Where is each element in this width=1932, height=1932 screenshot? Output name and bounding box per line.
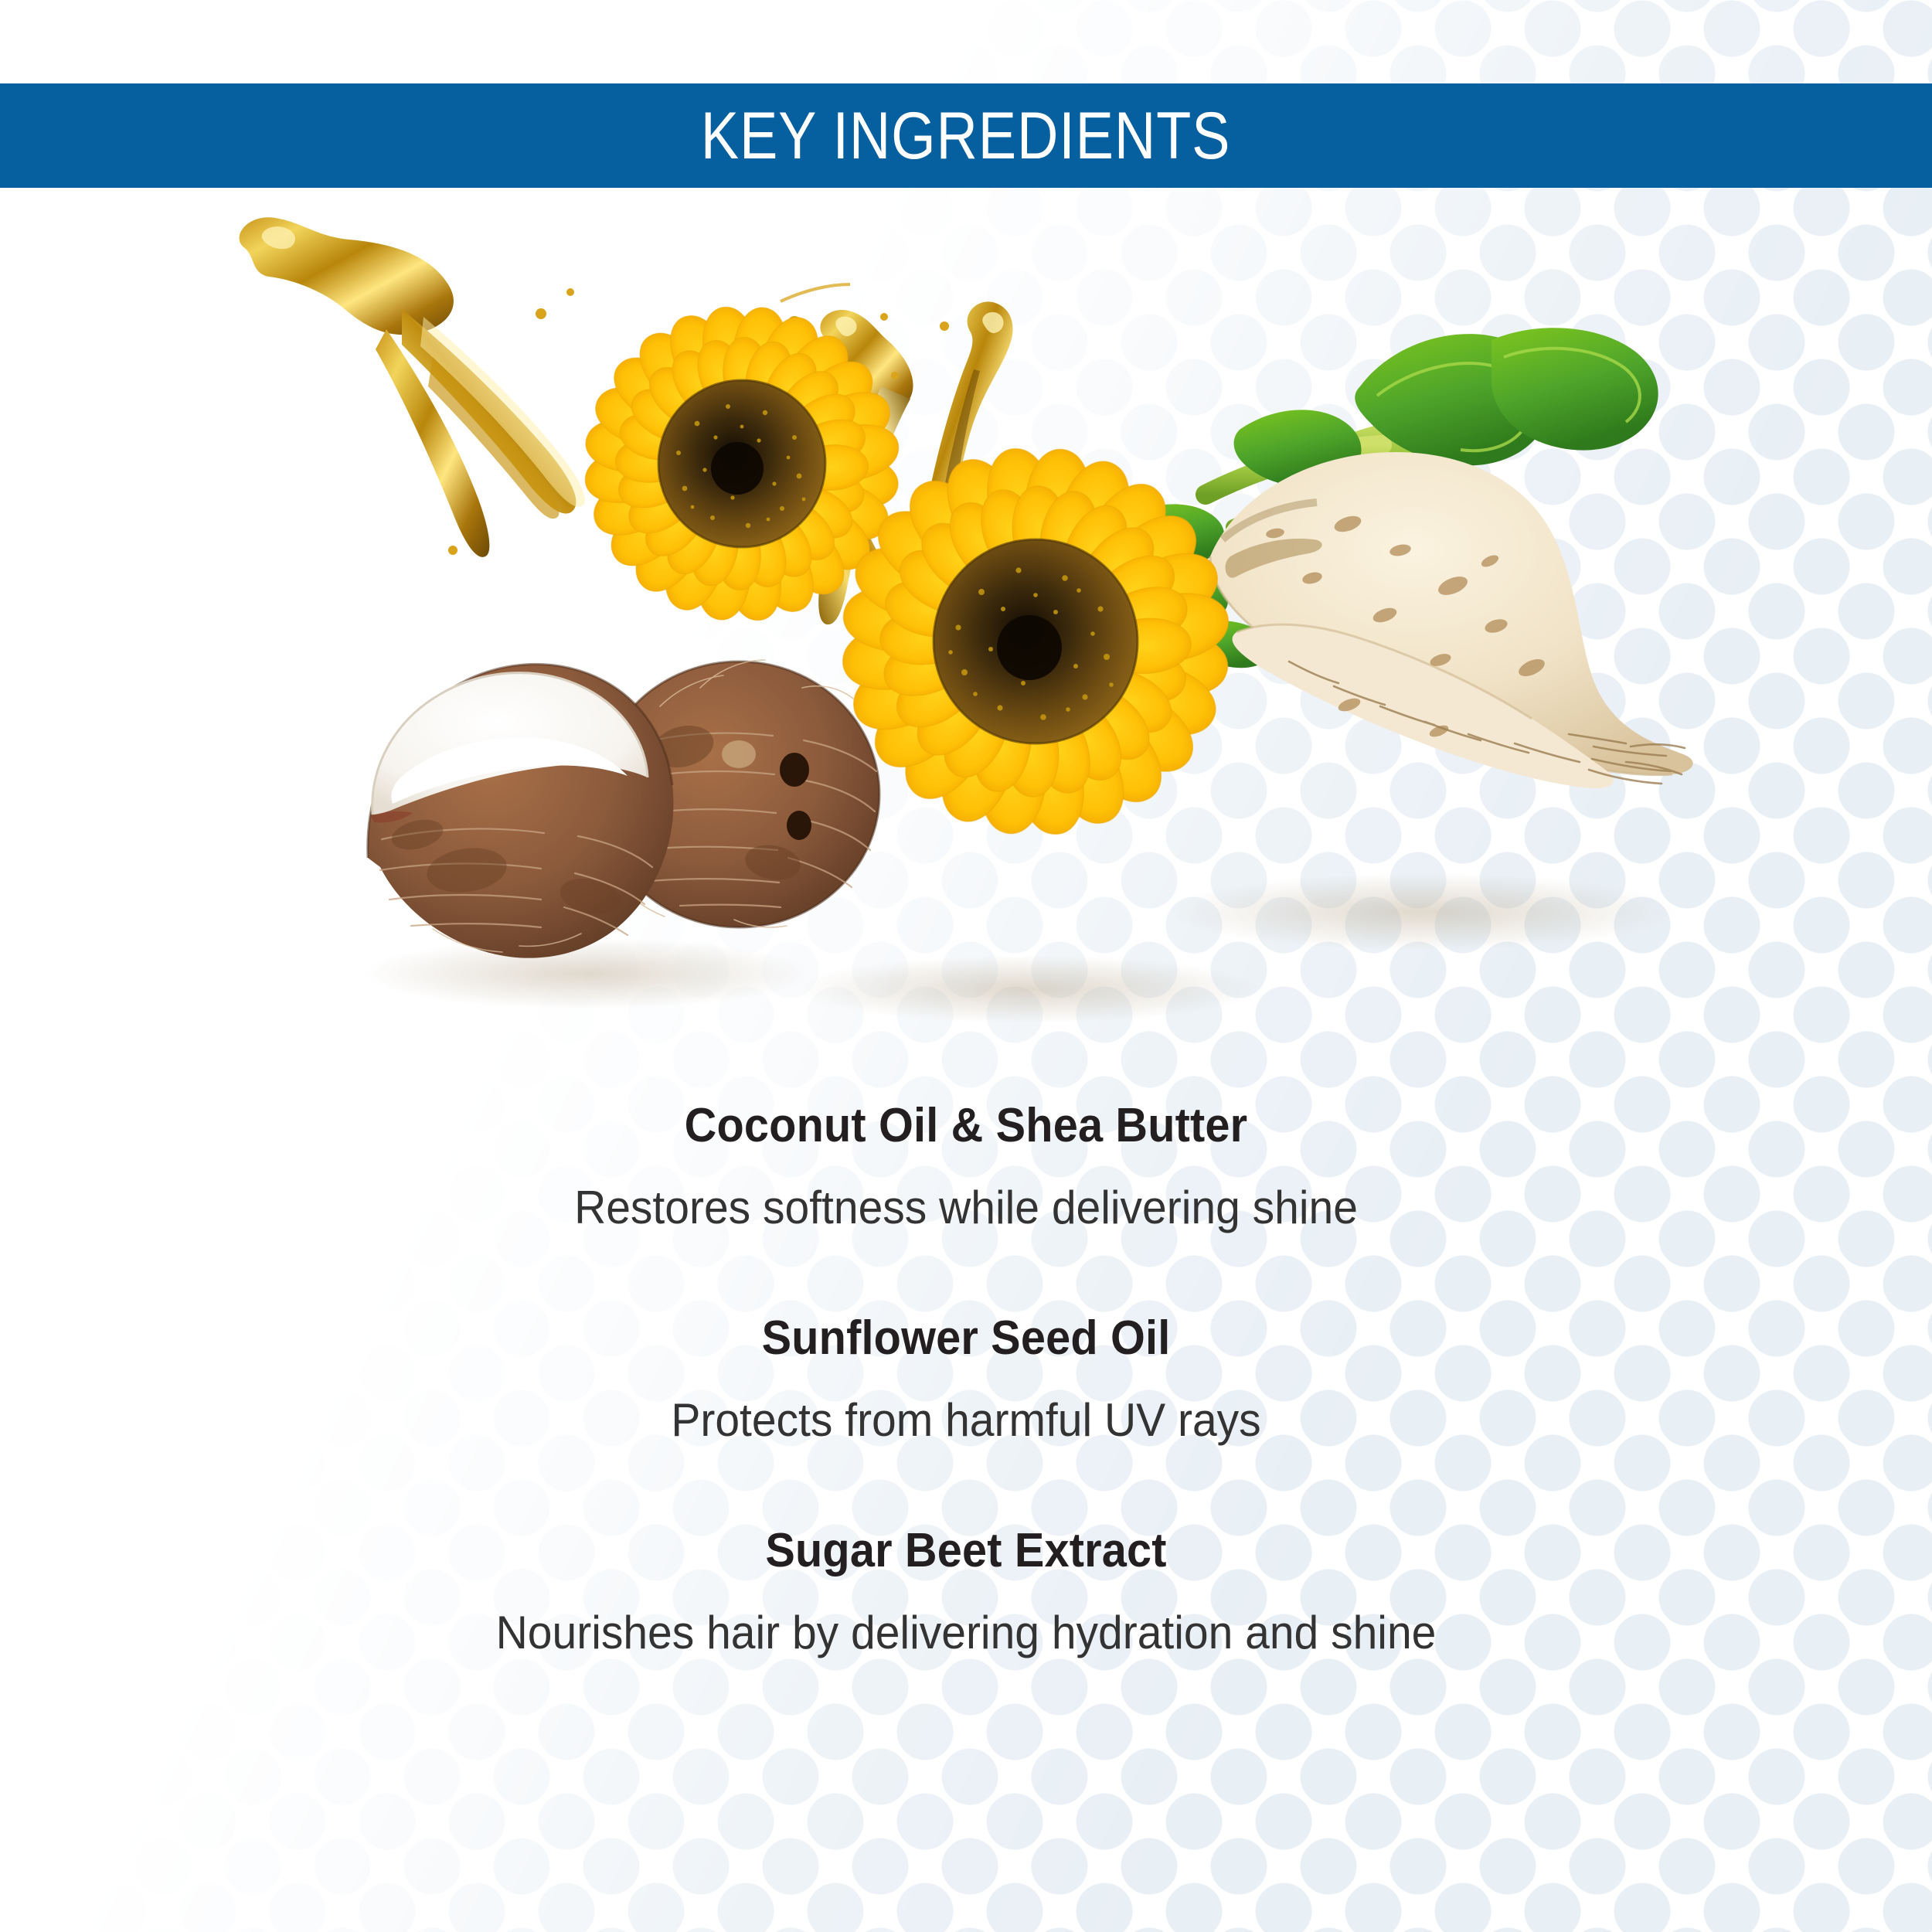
hero-ingredient-image — [0, 193, 1932, 1066]
ingredient-name: Sugar Beet Extract — [68, 1522, 1865, 1579]
shadow-coconut — [363, 938, 811, 1009]
page-title: KEY INGREDIENTS — [701, 103, 1231, 169]
ingredient-description: Nourishes hair by delivering hydration a… — [49, 1605, 1884, 1661]
sunflower-lower — [835, 441, 1235, 841]
oil-splash-left — [240, 217, 585, 557]
shadow-sunflower — [796, 955, 1260, 1023]
shadow-beet — [1167, 873, 1677, 951]
ingredient-item: Sugar Beet Extract Nourishes hair by del… — [0, 1522, 1932, 1661]
header-banner: KEY INGREDIENTS — [0, 83, 1932, 188]
ingredient-description: Restores softness while delivering shine — [49, 1180, 1884, 1236]
ingredient-name: Sunflower Seed Oil — [68, 1310, 1865, 1366]
ingredient-name: Coconut Oil & Shea Butter — [68, 1097, 1865, 1154]
ingredient-list: Coconut Oil & Shea Butter Restores softn… — [0, 1097, 1932, 1661]
key-ingredients-infographic: KEY INGREDIENTS — [0, 0, 1932, 1932]
ingredient-description: Protects from harmful UV rays — [49, 1393, 1884, 1448]
ingredient-item: Sunflower Seed Oil Protects from harmful… — [0, 1310, 1932, 1448]
coconut-open-half — [368, 664, 674, 957]
sugar-beet — [1210, 452, 1693, 788]
ingredient-item: Coconut Oil & Shea Butter Restores softn… — [0, 1097, 1932, 1236]
